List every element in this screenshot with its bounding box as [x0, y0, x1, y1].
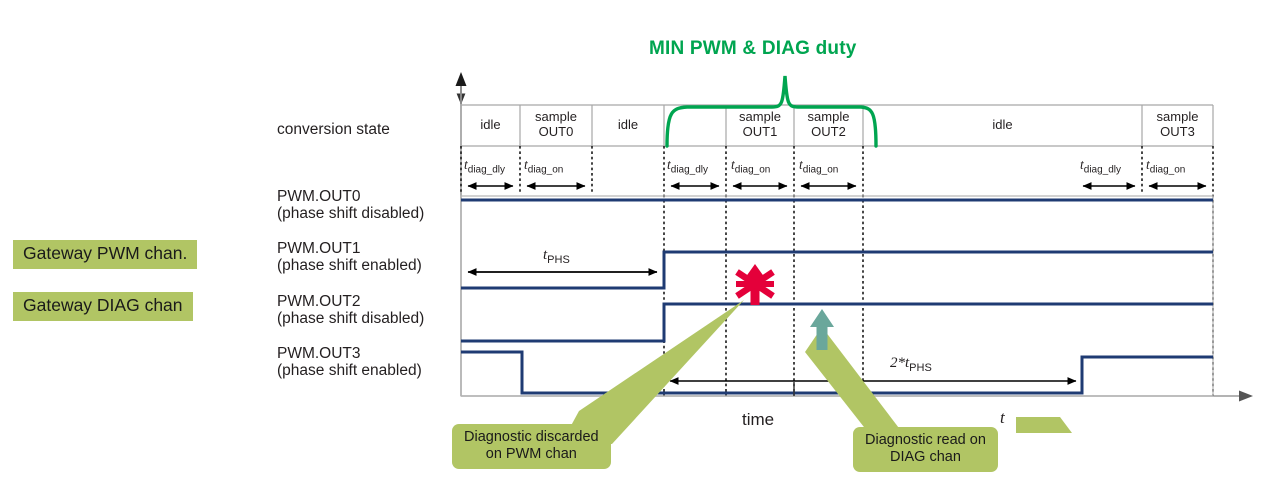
conversion-state-cell: sample OUT1 — [726, 109, 794, 139]
axis-label-t: t — [1000, 408, 1005, 428]
row-label-sub: (phase shift disabled) — [277, 310, 424, 327]
chip-gateway-pwm-chan: Gateway PWM chan. — [13, 240, 197, 269]
row-label-pwm-out1: PWM.OUT1 (phase shift enabled) — [277, 240, 422, 274]
row-label-pwm-out2: PWM.OUT2 (phase shift disabled) — [277, 293, 424, 327]
crossed-arrow-icon — [736, 264, 774, 305]
row-label-name: PWM.OUT1 — [277, 240, 422, 257]
row-label-sub: (phase shift enabled) — [277, 257, 422, 274]
conversion-state-cell: sample OUT3 — [1142, 109, 1213, 139]
timing-interval-label: tdiag_on — [731, 157, 770, 176]
timing-interval-label: tdiag_on — [799, 157, 838, 176]
timing-interval-label: tdiag_dly — [464, 157, 505, 176]
callout-line2: on PWM chan — [464, 446, 599, 463]
callout-line2: DIAG chan — [865, 449, 986, 466]
conversion-state-cell: idle — [461, 117, 520, 132]
callout-tab-read — [1016, 417, 1072, 433]
axis-label-time: time — [742, 410, 774, 430]
row-label-name: PWM.OUT0 — [277, 188, 424, 205]
row-label-name: PWM.OUT3 — [277, 345, 422, 362]
callout-line1: Diagnostic discarded — [464, 429, 599, 446]
conversion-state-cell: idle — [592, 117, 664, 132]
callout-diagnostic-discarded: Diagnostic discarded on PWM chan — [452, 424, 611, 469]
diagram-canvas — [0, 0, 1269, 478]
row-label-pwm-out0: PWM.OUT0 (phase shift disabled) — [277, 188, 424, 222]
row-label-conversion-state: conversion state — [277, 121, 390, 139]
waveform-pwm-out2 — [461, 304, 1213, 341]
waveform-pwm-out1 — [461, 252, 1213, 288]
timing-interval-label: tdiag_on — [1146, 157, 1185, 176]
row-label-pwm-out3: PWM.OUT3 (phase shift enabled) — [277, 345, 422, 379]
callout-diagnostic-read: Diagnostic read on DIAG chan — [853, 427, 998, 472]
callout-line1: Diagnostic read on — [865, 432, 986, 449]
row-label-sub: (phase shift disabled) — [277, 205, 424, 222]
callout-leader-discarded — [561, 300, 744, 444]
conversion-state-cell: sample OUT2 — [794, 109, 863, 139]
conversion-state-cell: idle — [863, 117, 1142, 132]
tphs-label: tPHS — [543, 247, 570, 266]
conversion-state-cell: sample OUT0 — [520, 109, 592, 139]
timing-interval-label: tdiag_on — [524, 157, 563, 176]
timing-interval-label: tdiag_dly — [1080, 157, 1121, 176]
row-label-name: PWM.OUT2 — [277, 293, 424, 310]
timing-interval-label: tdiag_dly — [667, 157, 708, 176]
chip-gateway-diag-chan: Gateway DIAG chan — [13, 292, 193, 321]
row-label-sub: (phase shift enabled) — [277, 362, 422, 379]
page-title: MIN PWM & DIAG duty — [649, 38, 857, 60]
two-tphs-label: 2*tPHS — [890, 355, 932, 374]
timing-diagram: idle sample OUT0 idle sample OUT1 sample… — [0, 0, 1269, 478]
